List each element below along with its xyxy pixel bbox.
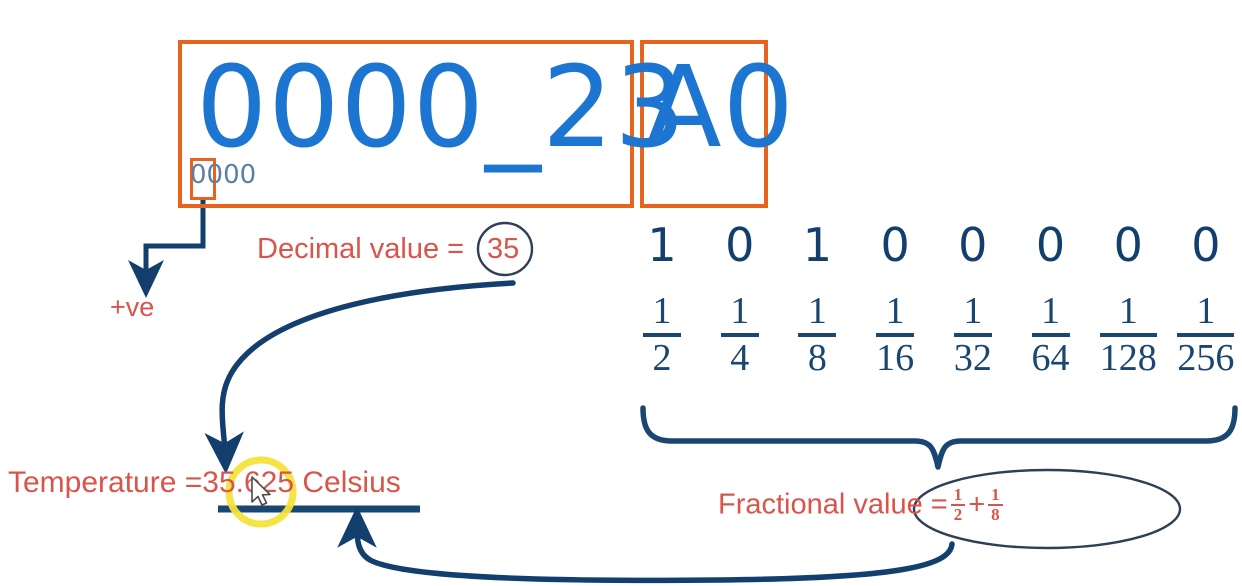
decimal-value-number: 35 xyxy=(487,233,519,266)
weight-fraction: 1 128 xyxy=(1098,292,1158,378)
weight-numerator: 1 xyxy=(730,292,749,331)
binary-digit: 0 xyxy=(1098,222,1158,268)
temperature-label: Temperature = xyxy=(8,466,202,499)
binary-digit: 0 xyxy=(943,222,1003,268)
temperature-result: Temperature =35.625 Celsius xyxy=(8,466,401,500)
weight-denominator: 128 xyxy=(1100,333,1157,378)
sign-bit-arrow xyxy=(146,200,203,278)
binary-digit: 1 xyxy=(632,222,692,268)
binary-digit: 1 xyxy=(787,222,847,268)
weight-fraction: 1 4 xyxy=(710,292,770,378)
fractional-plus-sign: + xyxy=(968,489,985,521)
hex-value-tail: A0 xyxy=(645,52,795,164)
fractional-term-2-numerator: 1 xyxy=(988,486,1003,504)
decimal-value-label: Decimal value = xyxy=(257,233,464,266)
temperature-value: 35.625 xyxy=(202,466,294,499)
hex-value-main: 0000_23 xyxy=(196,52,687,164)
weight-fraction: 1 2 xyxy=(632,292,692,378)
weight-denominator: 8 xyxy=(798,333,836,378)
binary-digits-row: 1 0 1 0 0 0 0 0 xyxy=(632,222,1236,268)
fractional-term-1: 1 2 xyxy=(951,486,966,524)
weight-numerator: 1 xyxy=(808,292,827,331)
weight-fraction: 1 256 xyxy=(1176,292,1236,378)
binary-digit: 0 xyxy=(1021,222,1081,268)
weight-fraction: 1 8 xyxy=(787,292,847,378)
fractional-value-expression: Fractional value = 1 2 + 1 8 xyxy=(718,487,1006,525)
fractional-term-1-denominator: 2 xyxy=(951,504,966,524)
fractional-value-label: Fractional value = xyxy=(718,489,948,521)
diagram-canvas: 0000_23 A0 0000 +ve Decimal value = 35 1… xyxy=(0,0,1242,586)
weight-denominator: 2 xyxy=(643,333,681,378)
weight-denominator: 4 xyxy=(721,333,759,378)
weight-fraction: 1 16 xyxy=(865,292,925,378)
weight-denominator: 16 xyxy=(876,333,914,378)
decimal-to-temperature-arrow xyxy=(222,283,513,452)
binary-digit: 0 xyxy=(865,222,925,268)
fractional-term-2: 1 8 xyxy=(988,486,1003,524)
weight-numerator: 1 xyxy=(886,292,905,331)
fractional-term-2-denominator: 8 xyxy=(988,504,1003,524)
weight-denominator: 32 xyxy=(954,333,992,378)
weight-numerator: 1 xyxy=(653,292,672,331)
fraction-weights-brace xyxy=(643,408,1235,467)
binary-digit: 0 xyxy=(710,222,770,268)
weight-numerator: 1 xyxy=(963,292,982,331)
weight-denominator: 256 xyxy=(1177,333,1234,378)
binary-digit: 0 xyxy=(1176,222,1236,268)
weight-fraction: 1 32 xyxy=(943,292,1003,378)
fractional-term-1-numerator: 1 xyxy=(951,486,966,504)
weight-denominator: 64 xyxy=(1032,333,1070,378)
weight-numerator: 1 xyxy=(1196,292,1215,331)
fraction-weights-row: 1 2 1 4 1 8 1 16 1 32 1 64 1 128 1 256 xyxy=(632,292,1236,378)
sign-bits-label: 0000 xyxy=(190,160,256,190)
weight-numerator: 1 xyxy=(1119,292,1138,331)
fraction-to-temperature-arrow xyxy=(357,528,952,580)
temperature-unit: Celsius xyxy=(302,466,400,499)
weight-fraction: 1 64 xyxy=(1021,292,1081,378)
weight-numerator: 1 xyxy=(1041,292,1060,331)
sign-polarity-label: +ve xyxy=(110,292,154,323)
